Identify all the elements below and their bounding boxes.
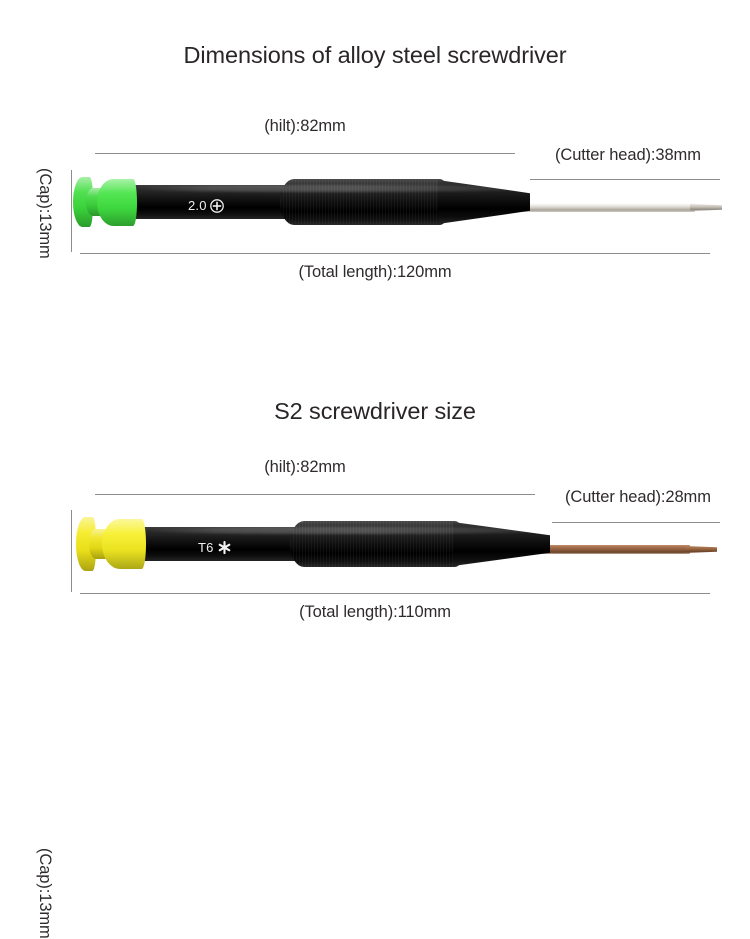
shaft-1	[520, 203, 695, 212]
screwdriver-dimensions-infographic: { "figures": [ { "id": "alloy-steel", "t…	[0, 0, 750, 750]
cap-2	[76, 517, 152, 571]
cap-body-2	[102, 519, 146, 570]
cap-label-2: (Cap):13mm	[35, 848, 54, 939]
handle-marking-text-1: 2.0	[188, 198, 207, 213]
handle-marking-2: T6	[198, 540, 232, 555]
shaft-tip-2	[685, 546, 717, 553]
handle-marking-text-2: T6	[198, 540, 214, 555]
shaft-2	[540, 545, 690, 554]
cap-1	[73, 177, 143, 227]
cap-body-shade-1	[97, 179, 137, 226]
cap-body-1	[97, 179, 137, 226]
figure-alloy-steel-screwdriver: Dimensions of alloy steel screwdriver (h…	[0, 0, 750, 370]
figure-s2-screwdriver: S2 screwdriver size (hilt):82mm (Cutter …	[0, 340, 750, 710]
cap-body-shade-2	[102, 519, 146, 570]
screwdriver-illustration-1: 2.0	[0, 0, 750, 370]
screwdriver-illustration-2: T6	[0, 340, 750, 710]
handle-marking-1: 2.0	[188, 198, 224, 213]
shaft-tip-1	[690, 204, 722, 211]
torx-star-icon	[217, 540, 232, 555]
phillips-cross-icon	[210, 199, 224, 213]
